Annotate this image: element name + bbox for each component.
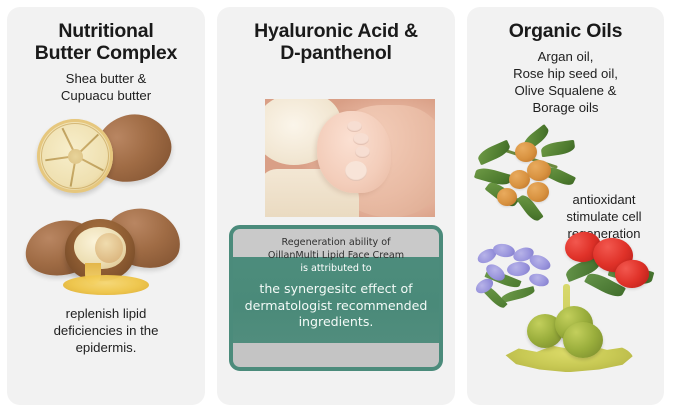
baby-thumbnail [345,161,367,181]
panel-2-title: Hyaluronic Acid & D-panthenol [217,7,455,64]
callout-small-line-2: OillanMulti Lipid Face Cream [233,250,439,263]
panel-3-title-line-1: Organic Oils [473,20,658,42]
callout-big-line-1: the synergesitc effect of [233,281,439,298]
panel-1-title-line-2: Butter Complex [13,42,199,64]
panel-3-subtitle-line-4: Borage oils [473,100,658,117]
callout-small-line-3: is attributed to [233,263,439,276]
panel-2-title-line-1: Hyaluronic Acid & [223,20,449,42]
panel-1-title-line-1: Nutritional [13,20,199,42]
argan-nut-with-oil-image [21,201,193,305]
rose-hips-image [559,232,661,306]
panel-1-subtitle: Shea butter & Cupuacu butter [7,64,205,105]
baby-fingernail [355,146,370,158]
panel-nutritional-butter-complex: Nutritional Butter Complex Shea butter &… [7,7,205,405]
panel-1-footer-line-3: epidermis. [7,339,205,356]
panel-1-footer-line-1: replenish lipid [7,305,205,322]
baby-fingernail [353,133,369,145]
panel-3-subtitle-line-3: Olive Squalene & [473,83,658,100]
callout-small-line-1: Regeneration ability of [233,237,439,250]
panel-organic-oils: Organic Oils Argan oil, Rose hip seed oi… [467,7,664,405]
baby-hand-photo [265,99,435,217]
callout-bottom-band [233,343,439,367]
panel-3-title: Organic Oils [467,7,664,42]
callout-big-line-3: ingredients. [233,314,439,331]
panel-3-artwork: antioxidant stimulate cell regeneration [467,120,664,382]
callout-big-text: the synergesitc effect of dermatologist … [233,281,439,331]
panel-1-footer-line-2: deficiencies in the [7,322,205,339]
panel-3-side-line-1: antioxidant [548,192,660,209]
panel-1-subtitle-line-2: Cupuacu butter [13,88,199,105]
callout-text: Regeneration ability of OillanMulti Lipi… [233,237,439,331]
panel-2-title-line-2: D-panthenol [223,42,449,64]
panel-3-side-line-2: stimulate cell [548,209,660,226]
callout-big-line-2: dermatologist recommended [233,298,439,315]
shea-butter-nut-image [31,111,181,197]
panel-1-title: Nutritional Butter Complex [7,7,205,64]
argan-oil-pool [63,275,149,295]
olives-with-oil-image [501,296,635,378]
shea-nut-cross-section [37,119,113,193]
baby-fingernail [347,121,362,132]
panel-3-subtitle: Argan oil, Rose hip seed oil, Olive Squa… [467,42,664,116]
callout-small-text: Regeneration ability of OillanMulti Lipi… [233,237,439,275]
panel-1-subtitle-line-1: Shea butter & [13,71,199,88]
panel-3-subtitle-line-1: Argan oil, [473,49,658,66]
panel-1-artwork [7,109,205,305]
regeneration-callout-box: Regeneration ability of OillanMulti Lipi… [229,225,443,371]
panel-hyaluronic-acid-d-panthenol: Hyaluronic Acid & D-panthenol Regenerati… [217,7,455,405]
ingredient-panels-board: Nutritional Butter Complex Shea butter &… [0,0,675,412]
panel-1-footer-text: replenish lipid deficiencies in the epid… [7,305,205,356]
panel-3-subtitle-line-2: Rose hip seed oil, [473,66,658,83]
